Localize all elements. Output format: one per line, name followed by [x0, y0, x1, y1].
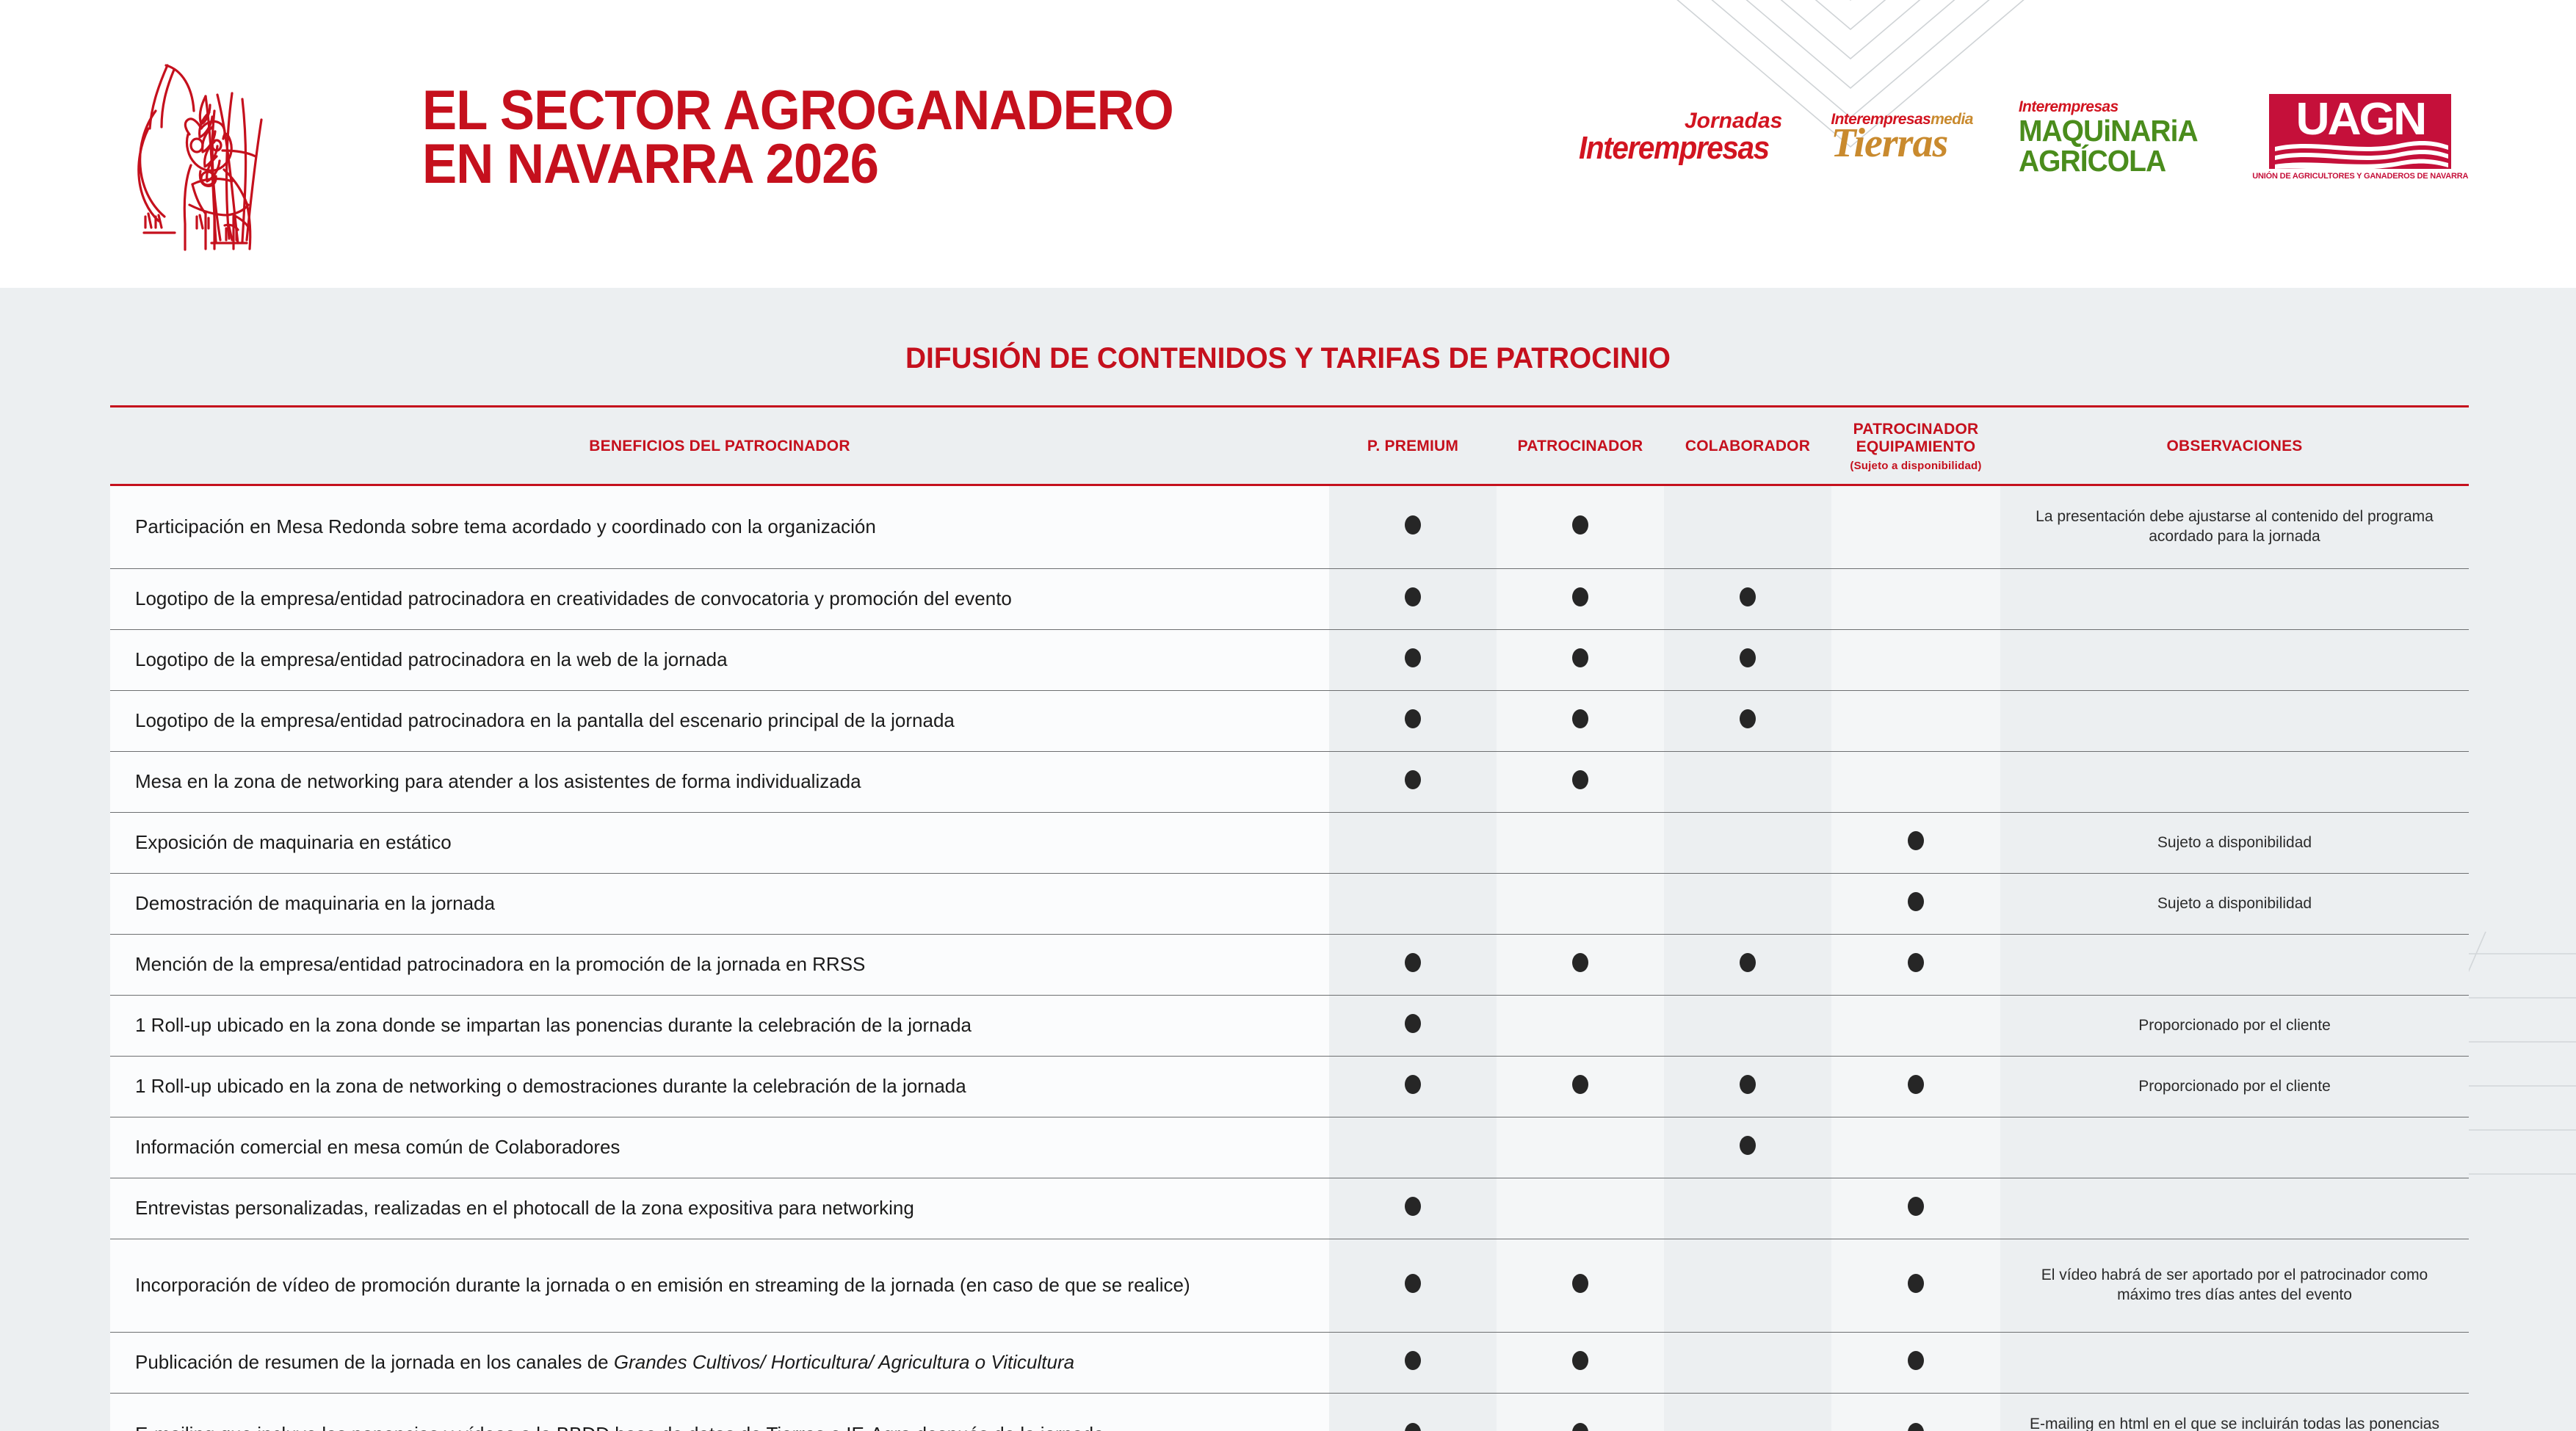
included-dot-icon	[1740, 587, 1756, 606]
tier-cell-patrocinador	[1497, 1178, 1664, 1239]
column-header-colaborador: COLABORADOR	[1664, 407, 1831, 485]
benefit-cell: Logotipo de la empresa/entidad patrocina…	[110, 691, 1329, 752]
included-dot-icon	[1405, 648, 1421, 667]
benefit-cell: Logotipo de la empresa/entidad patrocina…	[110, 630, 1329, 691]
tier-cell-colaborador	[1664, 1178, 1831, 1239]
page-header: EL SECTOR AGROGANADERO EN NAVARRA 2026 J…	[0, 0, 2576, 288]
benefit-cell: Mesa en la zona de networking para atend…	[110, 752, 1329, 813]
included-dot-icon	[1405, 1423, 1421, 1431]
observations-cell	[2000, 752, 2469, 813]
tier-cell-premium	[1329, 1394, 1497, 1431]
observations-cell: E-mailing en html en el que se incluirán…	[2000, 1394, 2469, 1431]
tier-cell-patrocinador	[1497, 1057, 1664, 1117]
benefit-cell: Demostración de maquinaria en la jornada	[110, 874, 1329, 935]
included-dot-icon	[1908, 1197, 1924, 1216]
observations-cell: El vídeo habrá de ser aportado por el pa…	[2000, 1239, 2469, 1333]
tier-cell-equipamiento	[1831, 752, 2000, 813]
table-row: Exposición de maquinaria en estáticoSuje…	[110, 813, 2469, 874]
observations-cell: Sujeto a disponibilidad	[2000, 874, 2469, 935]
observations-cell	[2000, 569, 2469, 630]
included-dot-icon	[1572, 587, 1588, 606]
table-row: Entrevistas personalizadas, realizadas e…	[110, 1178, 2469, 1239]
logo-uagn: UAGN UNIÓN DE AGRICULTORES Y GANADEROS D…	[2252, 94, 2468, 181]
observations-cell: Sujeto a disponibilidad	[2000, 813, 2469, 874]
included-dot-icon	[1572, 770, 1588, 789]
tier-cell-colaborador	[1664, 935, 1831, 996]
tier-cell-patrocinador	[1497, 569, 1664, 630]
tier-cell-equipamiento	[1831, 996, 2000, 1057]
included-dot-icon	[1405, 1014, 1421, 1033]
tier-cell-premium	[1329, 630, 1497, 691]
logo-jornadas-line1: Jornadas	[1579, 110, 1785, 132]
included-dot-icon	[1572, 1075, 1588, 1094]
table-row: Logotipo de la empresa/entidad patrocina…	[110, 630, 2469, 691]
included-dot-icon	[1908, 953, 1924, 972]
table-head: BENEFICIOS DEL PATROCINADOR P. PREMIUM P…	[110, 407, 2469, 485]
table-row: Información comercial en mesa común de C…	[110, 1117, 2469, 1178]
tier-cell-colaborador	[1664, 1394, 1831, 1431]
tier-cell-colaborador	[1664, 813, 1831, 874]
included-dot-icon	[1740, 648, 1756, 667]
tier-cell-colaborador	[1664, 874, 1831, 935]
table-row: 1 Roll-up ubicado en la zona de networki…	[110, 1057, 2469, 1117]
tier-cell-colaborador	[1664, 569, 1831, 630]
logo-jornadas-interempresas: Jornadas Interempresas	[1579, 110, 1785, 164]
included-dot-icon	[1908, 1351, 1924, 1370]
column-header-benefit: BENEFICIOS DEL PATROCINADOR	[110, 407, 1329, 485]
column-header-equipamiento-sub: (Sujeto a disponibilidad)	[1836, 460, 1996, 472]
tier-cell-equipamiento	[1831, 1394, 2000, 1431]
table-header-row: BENEFICIOS DEL PATROCINADOR P. PREMIUM P…	[110, 407, 2469, 485]
observations-cell	[2000, 1117, 2469, 1178]
tier-cell-patrocinador	[1497, 996, 1664, 1057]
tier-cell-colaborador	[1664, 1333, 1831, 1394]
included-dot-icon	[1405, 1075, 1421, 1094]
included-dot-icon	[1908, 892, 1924, 911]
benefit-cell: Información comercial en mesa común de C…	[110, 1117, 1329, 1178]
tier-cell-premium	[1329, 813, 1497, 874]
benefit-cell: Incorporación de vídeo de promoción dura…	[110, 1239, 1329, 1333]
logo-maquinaria-line1: Interempresas	[2019, 99, 2207, 115]
benefit-cell: Mención de la empresa/entidad patrocinad…	[110, 935, 1329, 996]
tier-cell-premium	[1329, 1117, 1497, 1178]
tier-cell-equipamiento	[1831, 1239, 2000, 1333]
table-row: Mesa en la zona de networking para atend…	[110, 752, 2469, 813]
included-dot-icon	[1572, 1274, 1588, 1293]
included-dot-icon	[1405, 709, 1421, 728]
tier-cell-equipamiento	[1831, 874, 2000, 935]
tier-cell-colaborador	[1664, 996, 1831, 1057]
included-dot-icon	[1908, 1423, 1924, 1431]
tier-cell-premium	[1329, 874, 1497, 935]
table-row: Demostración de maquinaria en la jornada…	[110, 874, 2469, 935]
logo-uagn-word: UAGN	[2295, 97, 2425, 142]
tier-cell-equipamiento	[1831, 1117, 2000, 1178]
included-dot-icon	[1572, 709, 1588, 728]
column-header-observaciones: OBSERVACIONES	[2000, 407, 2469, 485]
logo-maquinaria-line2: MAQUiNARiA	[2019, 116, 2198, 146]
included-dot-icon	[1405, 953, 1421, 972]
sponsorship-table-wrapper: BENEFICIOS DEL PATROCINADOR P. PREMIUM P…	[110, 405, 2469, 1431]
benefit-text-emphasis: Grandes Cultivos/ Horticultura/ Agricult…	[614, 1351, 1074, 1373]
tier-cell-premium	[1329, 691, 1497, 752]
tier-cell-equipamiento	[1831, 1333, 2000, 1394]
tier-cell-premium	[1329, 1333, 1497, 1394]
benefit-cell: Logotipo de la empresa/entidad patrocina…	[110, 569, 1329, 630]
tier-cell-equipamiento	[1831, 1057, 2000, 1117]
tier-cell-premium	[1329, 1239, 1497, 1333]
tier-cell-colaborador	[1664, 752, 1831, 813]
included-dot-icon	[1405, 1197, 1421, 1216]
included-dot-icon	[1572, 1423, 1588, 1431]
waves-icon	[2269, 137, 2451, 169]
logo-uagn-caption: UNIÓN DE AGRICULTORES Y GANADEROS DE NAV…	[2252, 172, 2468, 181]
benefit-cell: 1 Roll-up ubicado en la zona de networki…	[110, 1057, 1329, 1117]
tier-cell-equipamiento	[1831, 1178, 2000, 1239]
tier-cell-equipamiento	[1831, 630, 2000, 691]
tier-cell-equipamiento	[1831, 485, 2000, 569]
observations-cell	[2000, 691, 2469, 752]
table-row: Mención de la empresa/entidad patrocinad…	[110, 935, 2469, 996]
included-dot-icon	[1740, 1136, 1756, 1155]
tier-cell-patrocinador	[1497, 813, 1664, 874]
tier-cell-premium	[1329, 752, 1497, 813]
logo-jornadas-line2: Interempresas	[1579, 132, 1769, 164]
column-header-patrocinador: PATROCINADOR	[1497, 407, 1664, 485]
included-dot-icon	[1908, 1075, 1924, 1094]
observations-cell	[2000, 1333, 2469, 1394]
sponsorship-table: BENEFICIOS DEL PATROCINADOR P. PREMIUM P…	[110, 405, 2469, 1431]
included-dot-icon	[1572, 648, 1588, 667]
tier-cell-premium	[1329, 996, 1497, 1057]
tier-cell-equipamiento	[1831, 935, 2000, 996]
table-body: Participación en Mesa Redonda sobre tema…	[110, 485, 2469, 1431]
observations-cell	[2000, 1178, 2469, 1239]
included-dot-icon	[1572, 1351, 1588, 1370]
included-dot-icon	[1908, 1274, 1924, 1293]
tier-cell-patrocinador	[1497, 1333, 1664, 1394]
tier-cell-premium	[1329, 1057, 1497, 1117]
included-dot-icon	[1740, 709, 1756, 728]
page-title-line-2: EN NAVARRA 2026	[422, 133, 878, 195]
tier-cell-patrocinador	[1497, 1394, 1664, 1431]
tier-cell-equipamiento	[1831, 569, 2000, 630]
tier-cell-patrocinador	[1497, 485, 1664, 569]
tier-cell-premium	[1329, 485, 1497, 569]
tier-cell-premium	[1329, 569, 1497, 630]
observations-cell: La presentación debe ajustarse al conten…	[2000, 485, 2469, 569]
content-sheet: DIFUSIÓN DE CONTENIDOS Y TARIFAS DE PATR…	[0, 288, 2576, 1431]
observations-cell	[2000, 935, 2469, 996]
logo-maquinaria-line3: AGRÍCOLA	[2019, 146, 2198, 176]
column-header-equipamiento-label: PATROCINADOR EQUIPAMIENTO	[1853, 421, 1979, 455]
section-title: DIFUSIÓN DE CONTENIDOS Y TARIFAS DE PATR…	[39, 342, 2538, 375]
included-dot-icon	[1572, 515, 1588, 535]
logo-uagn-box: UAGN	[2269, 94, 2451, 169]
table-row: Participación en Mesa Redonda sobre tema…	[110, 485, 2469, 569]
benefit-cell: 1 Roll-up ubicado en la zona donde se im…	[110, 996, 1329, 1057]
benefit-cell: Publicación de resumen de la jornada en …	[110, 1333, 1329, 1394]
included-dot-icon	[1740, 1075, 1756, 1094]
included-dot-icon	[1908, 831, 1924, 850]
table-row: 1 Roll-up ubicado en la zona donde se im…	[110, 996, 2469, 1057]
tier-cell-premium	[1329, 1178, 1497, 1239]
logo-tierras-wordmark: Tierras	[1831, 123, 1972, 164]
page-title: EL SECTOR AGROGANADERO EN NAVARRA 2026	[422, 84, 1173, 192]
benefit-cell: Exposición de maquinaria en estático	[110, 813, 1329, 874]
included-dot-icon	[1405, 515, 1421, 535]
tier-cell-equipamiento	[1831, 813, 2000, 874]
observations-cell: Proporcionado por el cliente	[2000, 1057, 2469, 1117]
tier-cell-equipamiento	[1831, 691, 2000, 752]
tier-cell-colaborador	[1664, 1239, 1831, 1333]
tier-cell-colaborador	[1664, 691, 1831, 752]
tier-cell-patrocinador	[1497, 874, 1664, 935]
logo-maquinaria-agricola: Interempresas MAQUiNARiA AGRÍCOLA	[2019, 99, 2207, 176]
tier-cell-patrocinador	[1497, 935, 1664, 996]
tier-cell-colaborador	[1664, 1057, 1831, 1117]
included-dot-icon	[1405, 587, 1421, 606]
cow-and-wheat-logo-icon	[103, 40, 411, 253]
included-dot-icon	[1572, 953, 1588, 972]
included-dot-icon	[1740, 953, 1756, 972]
benefit-cell: Participación en Mesa Redonda sobre tema…	[110, 485, 1329, 569]
benefit-cell: Entrevistas personalizadas, realizadas e…	[110, 1178, 1329, 1239]
observations-cell: Proporcionado por el cliente	[2000, 996, 2469, 1057]
table-row: E-mailing que incluye las ponencias y ví…	[110, 1394, 2469, 1431]
tier-cell-colaborador	[1664, 485, 1831, 569]
tier-cell-premium	[1329, 935, 1497, 996]
table-row: Logotipo de la empresa/entidad patrocina…	[110, 691, 2469, 752]
tier-cell-colaborador	[1664, 630, 1831, 691]
tier-cell-patrocinador	[1497, 691, 1664, 752]
column-header-premium: P. PREMIUM	[1329, 407, 1497, 485]
benefit-cell: E-mailing que incluye las ponencias y ví…	[110, 1394, 1329, 1431]
table-row: Incorporación de vídeo de promoción dura…	[110, 1239, 2469, 1333]
table-row: Logotipo de la empresa/entidad patrocina…	[110, 569, 2469, 630]
included-dot-icon	[1405, 770, 1421, 789]
table-row: Publicación de resumen de la jornada en …	[110, 1333, 2469, 1394]
included-dot-icon	[1405, 1274, 1421, 1293]
tier-cell-colaborador	[1664, 1117, 1831, 1178]
tier-cell-patrocinador	[1497, 630, 1664, 691]
column-header-equipamiento: PATROCINADOR EQUIPAMIENTO (Sujeto a disp…	[1831, 407, 2000, 485]
included-dot-icon	[1405, 1351, 1421, 1370]
tier-cell-patrocinador	[1497, 1117, 1664, 1178]
tier-cell-patrocinador	[1497, 752, 1664, 813]
benefit-text: Publicación de resumen de la jornada en …	[135, 1351, 614, 1373]
observations-cell	[2000, 630, 2469, 691]
tier-cell-patrocinador	[1497, 1239, 1664, 1333]
logo-tierras: Interempresasmedia Tierras	[1831, 112, 1972, 164]
sponsor-logo-row: Jornadas Interempresas Interempresasmedi…	[1579, 94, 2468, 181]
